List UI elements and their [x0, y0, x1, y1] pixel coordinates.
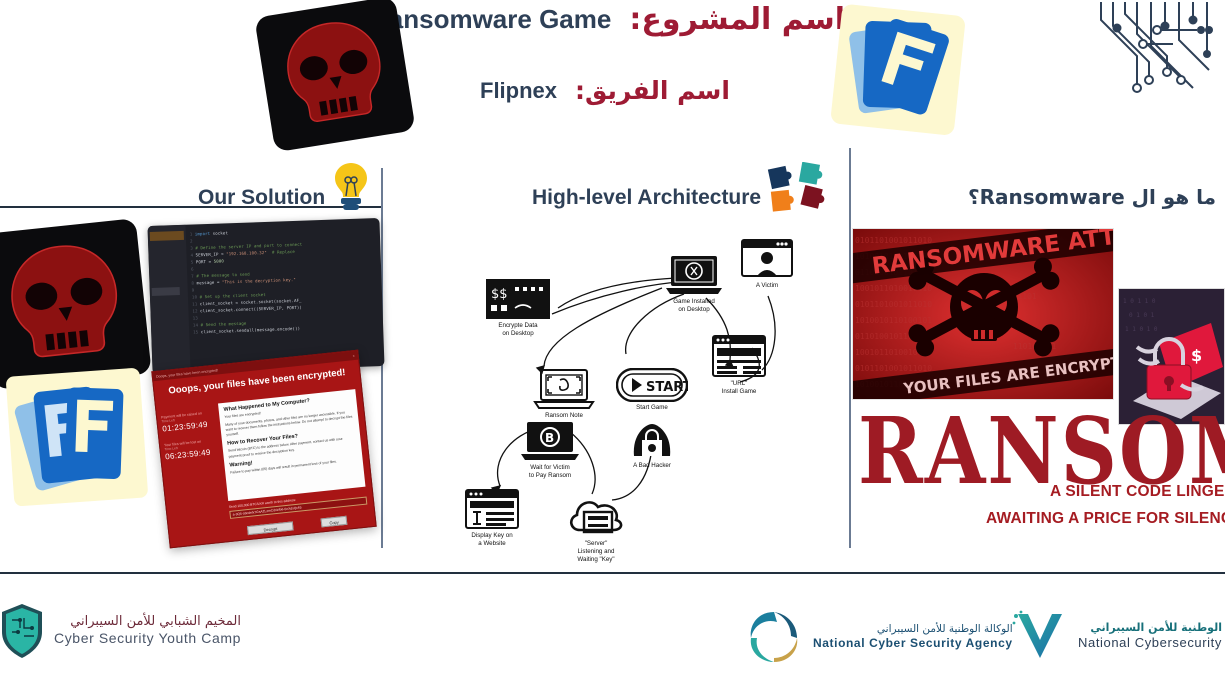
arch-label-wait-payment: Wait for Victim to Pay Ransom: [502, 464, 598, 480]
column-divider-right: [849, 148, 851, 548]
arch-node-ransom-note: Ransom Note: [518, 368, 610, 420]
ransom-note-titlebar-text: Ooops, your files have been encrypted!: [156, 368, 219, 379]
team-name-label: اسم الفريق:: [575, 76, 730, 105]
flipnex-logo: [823, 0, 976, 143]
footer-logo-youth-camp: المخيم الشبابي للأمن السيبراني Cyber Sec…: [0, 602, 241, 660]
arch-node-encrypt-data: $$ Encrypte Data on Desktop: [472, 278, 564, 338]
arch-label-start-game: Start Game: [608, 404, 696, 412]
ransomware-attack-banner: 01011010010110101010010110100101 0110100…: [852, 228, 1114, 400]
svg-text:0101101001011010: 0101101001011010: [855, 300, 932, 309]
arch-node-a-victim: A Victim: [732, 238, 802, 290]
arch-label-game-installed: Game Installed on Desktop: [646, 298, 742, 314]
editor-file-tab-secondary: [152, 287, 180, 296]
footer-ncs-arabic: الوطنية للأمن السيبراني: [1078, 621, 1222, 635]
arch-node-wait-payment: B Wait for Victim to Pay Ransom: [502, 420, 598, 480]
arch-node-bad-hacker: A Bad Hacker: [612, 418, 692, 470]
section-title-what-is-ransomware: ما هو ال Ransomware؟: [968, 185, 1216, 209]
svg-text:0101101001011010: 0101101001011010: [855, 236, 932, 245]
svg-text:B: B: [545, 431, 554, 445]
arch-label-server: "Server" Listening and Waiting "Key": [548, 540, 644, 563]
arch-node-server: "Server" Listening and Waiting "Key": [548, 494, 644, 563]
copy-button[interactable]: Copy: [321, 516, 348, 528]
svg-text:0 1 0 1: 0 1 0 1: [1129, 312, 1155, 319]
ncsa-swirl-icon: [745, 608, 803, 666]
team-name-value: Flipnex: [480, 78, 557, 104]
svg-text:1 1 0 1 0: 1 1 0 1 0: [1125, 326, 1158, 333]
circuit-board-icon: [1097, 0, 1225, 112]
architecture-diagram: $$ Encrypte Data on Desktop Game Install…: [440, 236, 840, 566]
footer-divider: [0, 572, 1225, 574]
arch-node-display-key: Display Key on a Website: [446, 488, 538, 548]
editor-file-tab: [150, 231, 184, 241]
arch-label-ransom-note: Ransom Note: [518, 412, 610, 420]
footer-camp-english: Cyber Security Youth Camp: [54, 630, 241, 648]
footer-ncsa-arabic: الوكالة الوطنية للأمن السيبراني: [813, 623, 1013, 636]
arch-node-game-installed: Game Installed on Desktop: [646, 254, 742, 314]
tagline-line-2: AWAITING A PRICE FOR SILENCE: [986, 510, 1225, 528]
footer-logo-ncs: الوطنية للأمن السيبراني National Cyberse…: [1012, 610, 1222, 662]
red-skull-icon: [254, 0, 416, 152]
footer-ncsa-english: National Cyber Security Agency: [813, 636, 1013, 651]
svg-text:0101101001011010: 0101101001011010: [855, 364, 932, 373]
project-name-value: Ransomware Game: [370, 4, 611, 35]
svg-text:1010010110100101: 1010010110100101: [855, 316, 932, 325]
footer-logo-ncsa: الوكالة الوطنية للأمن السيبراني National…: [745, 608, 1013, 666]
footer-ncs-english: National Cybersecurity: [1078, 635, 1222, 651]
arch-label-a-victim: A Victim: [732, 282, 802, 290]
tagline-line-1: A SILENT CODE LINGERS,: [1050, 483, 1225, 501]
lightbulb-icon: [328, 160, 374, 214]
arch-node-install-game: "URL" Install Game: [692, 334, 786, 396]
svg-text:$: $: [1191, 346, 1202, 365]
flipnex-logo: [3, 363, 152, 512]
svg-text:$$: $$: [491, 287, 508, 302]
puzzle-pieces-icon: [766, 162, 832, 214]
project-name-row: Ransomware Game اسم المشروع:: [370, 2, 845, 37]
editor-sidebar: [147, 225, 190, 374]
team-name-row: Flipnex اسم الفريق:: [480, 76, 730, 105]
section-title-architecture: High-level Architecture: [532, 186, 761, 210]
arch-node-start-game: START Start Game: [608, 368, 696, 412]
ransom-note-body: What Happened to My Computer? Your files…: [218, 389, 365, 501]
arch-label-display-key: Display Key on a Website: [446, 532, 538, 548]
svg-text:1 0 1 1 0: 1 0 1 1 0: [1123, 298, 1156, 305]
arch-label-encrypt-data: Encrypte Data on Desktop: [472, 322, 564, 338]
ncs-chevron-icon: [1012, 610, 1068, 662]
poster-canvas: Ransomware Game اسم المشروع: Flipnex اسم…: [0, 0, 1225, 688]
section-title-solution: Our Solution: [198, 186, 325, 210]
shield-icon: [0, 602, 44, 660]
close-icon[interactable]: ×: [352, 354, 355, 358]
footer-camp-arabic: المخيم الشبابي للأمن السيبراني: [54, 614, 241, 630]
arch-label-install-game: "URL" Install Game: [692, 380, 786, 396]
project-name-label: اسم المشروع:: [629, 2, 845, 37]
arch-label-bad-hacker: A Bad Hacker: [612, 462, 692, 470]
editor-code-text: 1 import socket 2 3 # Define the server …: [190, 224, 382, 336]
decrypt-button[interactable]: Decrypt: [247, 521, 294, 535]
svg-text:START: START: [646, 380, 688, 395]
ransom-note-window: Ooops, your files have been encrypted! ×…: [151, 350, 376, 549]
ransom-note-timers: Payment will be raised on Time Left 01:2…: [161, 410, 219, 471]
